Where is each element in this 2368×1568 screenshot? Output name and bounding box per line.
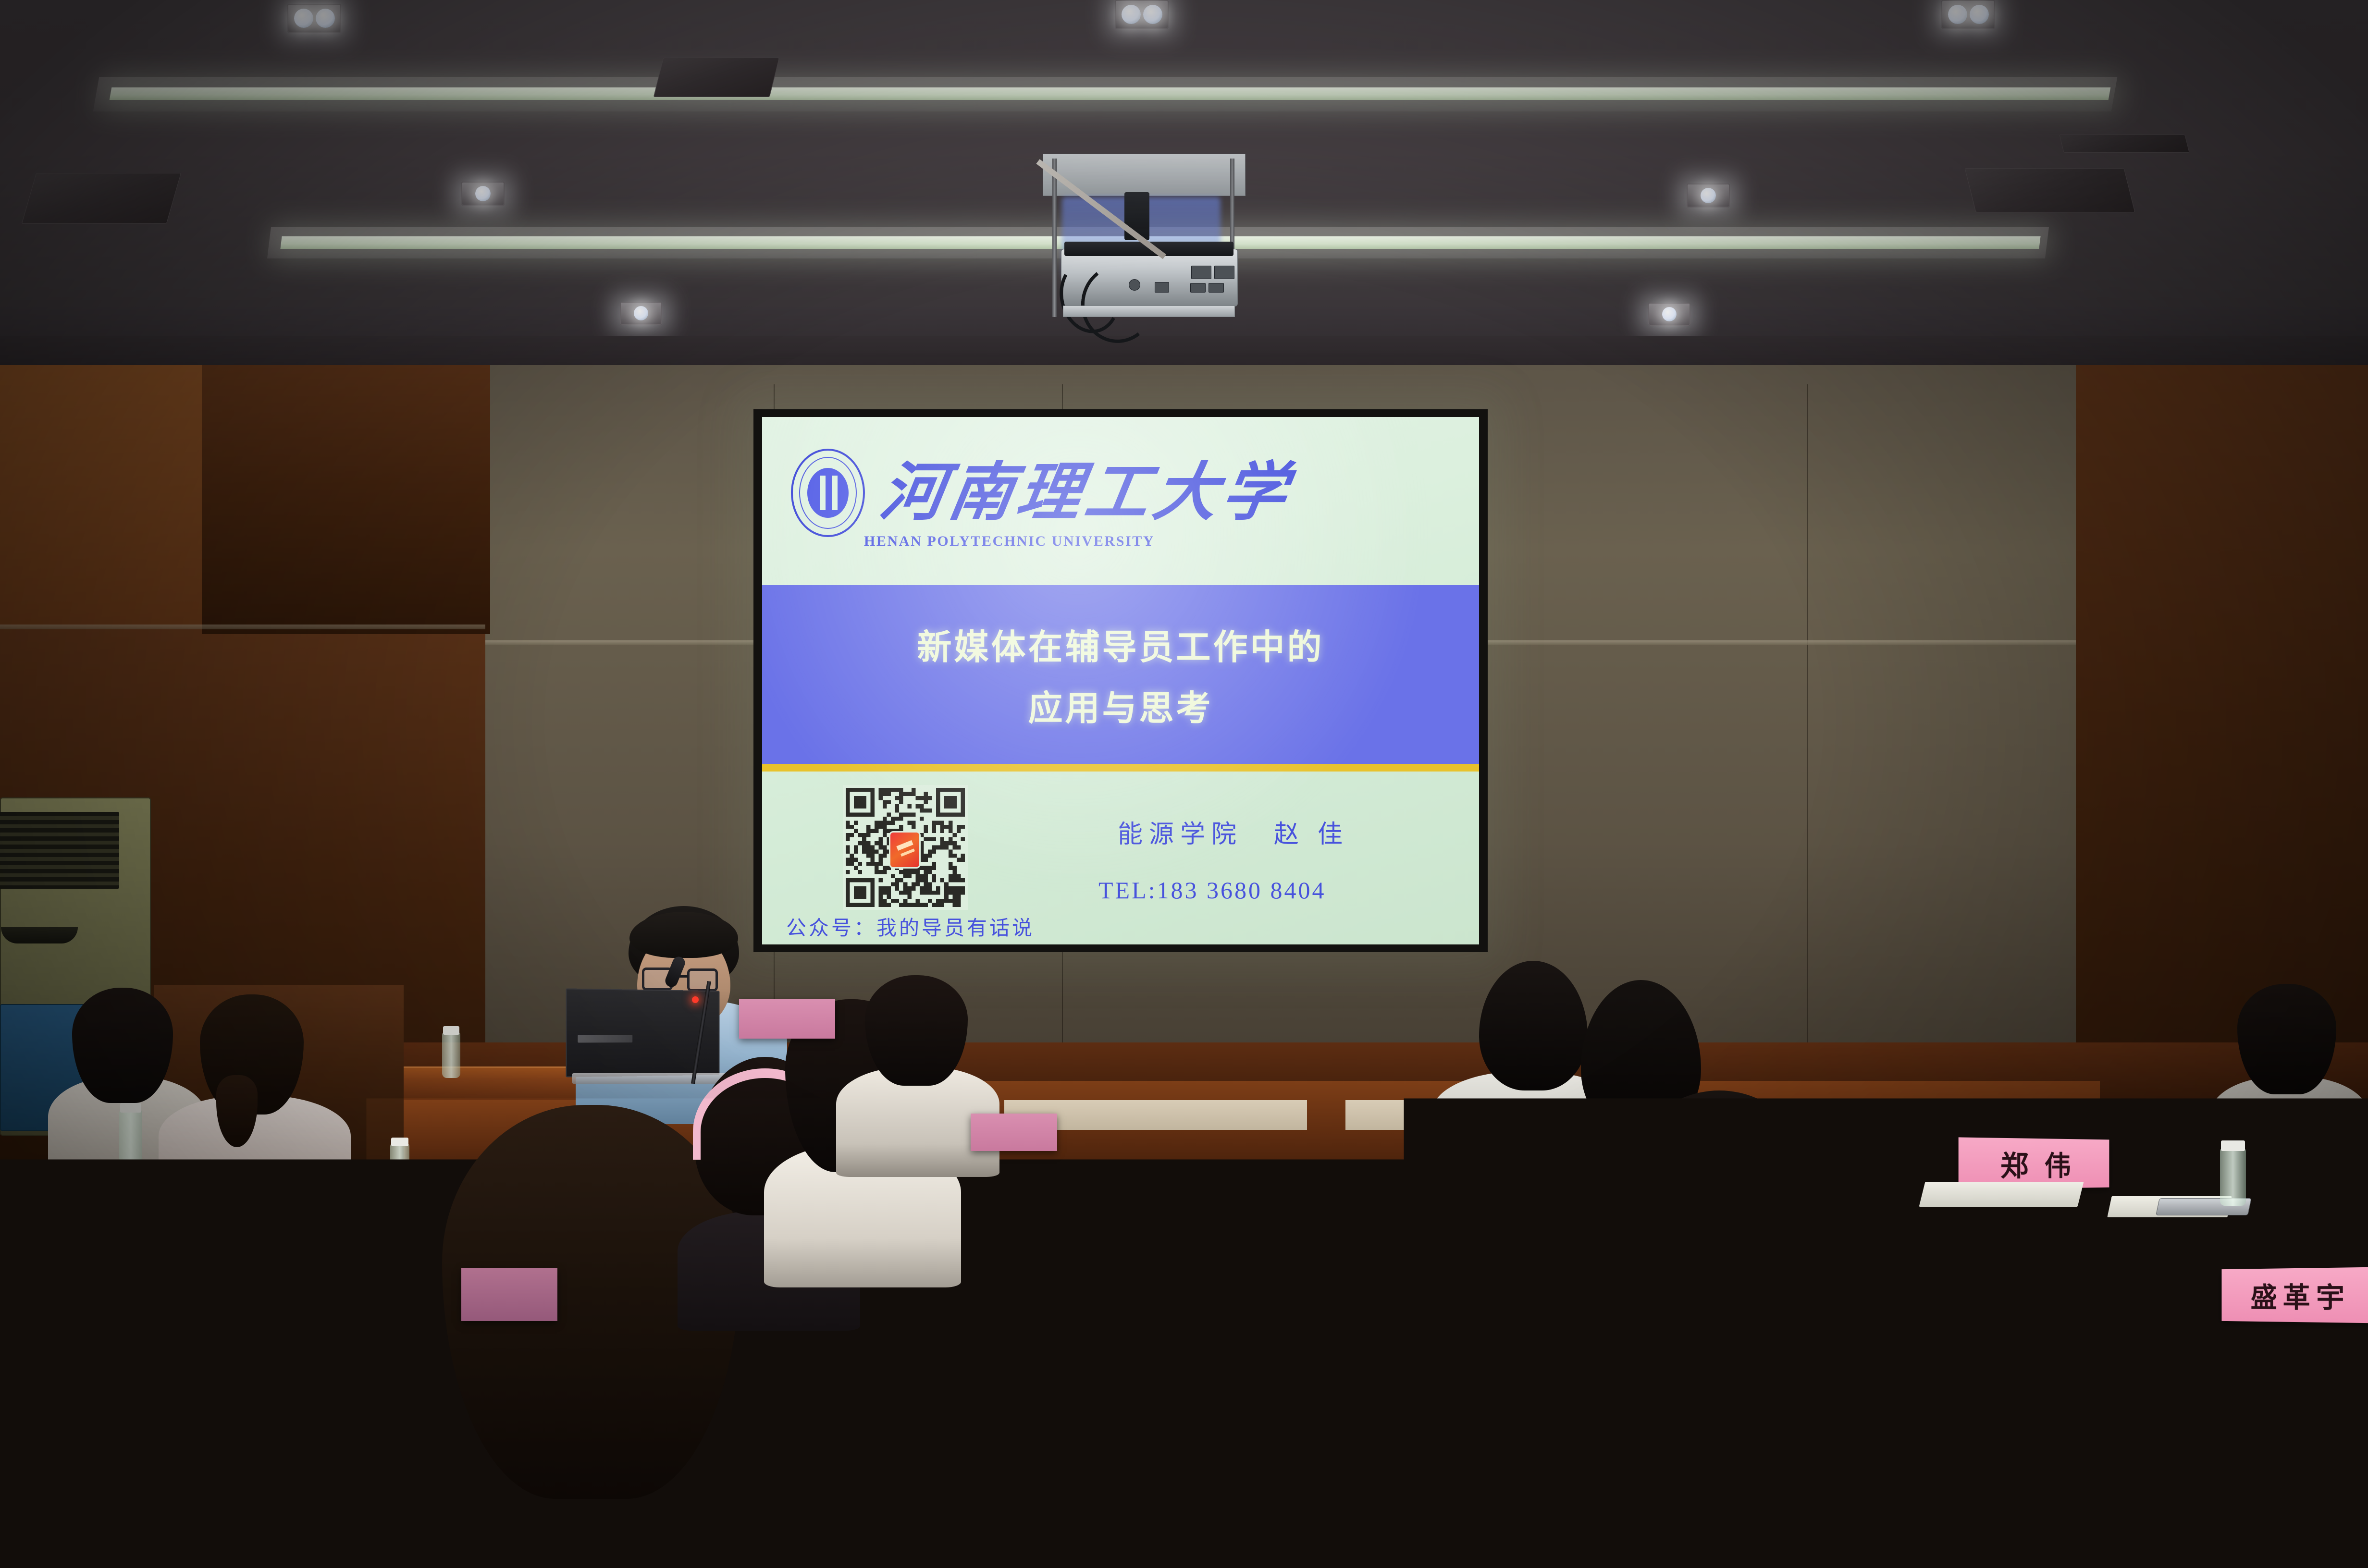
bulb-icon: [1970, 5, 1989, 24]
downlight-icon: [1115, 0, 1169, 29]
seat-arm-cap: [1125, 1175, 1161, 1194]
air-vent-icon: [654, 58, 779, 97]
bulb-icon: [1662, 307, 1677, 321]
projector-bottom-plate: [1063, 306, 1235, 317]
name-placard-blank: [1422, 1119, 1504, 1156]
slide-title-line2: 应用与思考: [1028, 680, 1213, 730]
name-placard-blank: [879, 1393, 961, 1451]
teal-cup-lid[interactable]: [1701, 1484, 1792, 1528]
slide-gold-rule: [762, 764, 1479, 772]
audience-member-foreground: [1076, 1470, 1442, 1568]
audience-hair: [2237, 984, 2336, 1094]
seat-back: [956, 1177, 990, 1428]
audience-member-sports-polo: sports: [1538, 1090, 1980, 1456]
wall-trim-rail-left: [0, 625, 485, 629]
slide-department-speaker: 能源学院 赵 佳: [1118, 814, 1349, 850]
slide-title-line1: 新媒体在辅导员工作中的: [917, 619, 1324, 669]
seat-back: [1124, 1182, 1158, 1443]
bottle-cap: [443, 1026, 459, 1035]
audience-torso: [1076, 1480, 1442, 1568]
cove-light-upper: [110, 87, 2111, 100]
bulb-icon: [475, 186, 491, 201]
university-name-en: HENAN POLYTECHNIC UNIVERSITY: [864, 533, 1155, 550]
projector-usb-port-icon: [1209, 283, 1224, 293]
name-placard-blank: [72, 1398, 178, 1456]
bulb-icon: [634, 306, 648, 320]
projector-usb-port-icon: [1190, 283, 1206, 293]
bulb-icon: [1143, 5, 1162, 24]
air-vent-icon: [1965, 168, 2135, 212]
water-bottle[interactable]: [442, 1032, 460, 1078]
downlight-icon: [1687, 184, 1730, 208]
audience-hair: [144, 1215, 351, 1408]
wood-wall-left-upper: [202, 365, 490, 634]
bulb-icon: [1948, 5, 1967, 24]
bulb-icon: [1701, 188, 1716, 203]
bottle-cap: [120, 1103, 141, 1113]
audience-hair: [1614, 1090, 1825, 1297]
seat-back: [1451, 1177, 1485, 1428]
name-placard: 盛革宇: [2221, 1267, 2368, 1323]
slide-title-band: 新媒体在辅导员工作中的 应用与思考: [762, 585, 1479, 764]
projection-screen-frame: 河南理工大学 HENAN POLYTECHNIC UNIVERSITY 新媒体在…: [753, 409, 1488, 952]
notebook[interactable]: [1470, 1360, 1595, 1379]
notebook[interactable]: [1919, 1182, 2084, 1207]
projector-vga-port-icon: [1214, 266, 1234, 279]
audience-hair: [72, 988, 173, 1103]
slide-university-logo: 河南理工大学: [791, 449, 1291, 537]
name-placard-blank: [461, 1268, 557, 1321]
water-bottle[interactable]: [2220, 1148, 2246, 1206]
projector-lan-port-icon: [1155, 282, 1169, 293]
downlight-icon: [620, 302, 662, 325]
glasses-lens-right-icon: [687, 968, 718, 992]
microphone-led-indicator: [692, 996, 699, 1003]
slide-telephone: TEL:183 3680 8404: [1098, 876, 1326, 904]
name-placard-blank: [971, 1114, 1057, 1151]
water-bottle[interactable]: [119, 1110, 142, 1163]
projection-screen: 河南理工大学 HENAN POLYTECHNIC UNIVERSITY 新媒体在…: [762, 417, 1479, 944]
university-seal-icon: [791, 449, 865, 537]
downlight-icon: [287, 4, 341, 33]
bulb-icon: [1122, 5, 1141, 24]
audience-member-foreground: [62, 1215, 428, 1568]
downlight-icon: [1941, 0, 1995, 29]
air-vent-icon: [22, 173, 181, 224]
projector-support-rod: [1052, 159, 1057, 317]
bulb-icon: [316, 9, 335, 28]
audience-member-foreground: [1922, 1408, 2258, 1568]
lecture-hall-photo: 河南理工大学 HENAN POLYTECHNIC UNIVERSITY 新媒体在…: [0, 0, 2368, 1568]
name-placard-blank: [2186, 1364, 2297, 1417]
audience-member: [159, 985, 351, 1211]
bulb-icon: [294, 9, 313, 28]
seal-emblem-icon: [807, 468, 849, 518]
wechat-qr-code: [843, 785, 968, 910]
audience-torso: [1922, 1436, 2258, 1568]
downlight-icon: [461, 182, 505, 206]
air-vent-icon: [2059, 135, 2189, 153]
bottle-cap: [391, 1138, 408, 1146]
ceiling-projector: [1024, 144, 1293, 336]
wall-panel: [1807, 384, 2077, 1134]
name-placard-blank: [739, 999, 835, 1039]
ac-display-panel: [1, 927, 78, 943]
projector-vga-port-icon: [1191, 266, 1211, 279]
university-name-cn: 河南理工大学: [876, 461, 1296, 525]
bottle-cap: [2221, 1140, 2245, 1151]
qr-center-logo-icon: [889, 831, 921, 869]
downlight-icon: [1648, 303, 1690, 326]
ac-grill-icon: [0, 812, 119, 889]
laptop-brand-logo: [578, 1035, 632, 1042]
audience-hair: [865, 975, 968, 1086]
